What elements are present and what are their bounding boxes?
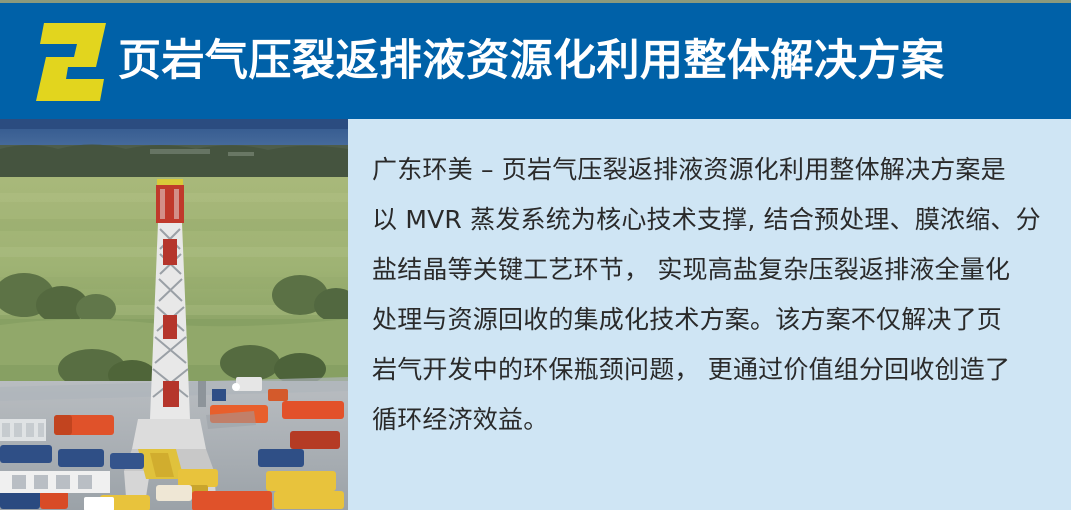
drilling-rig-photo-icon [0, 119, 348, 510]
header-banner: 页岩气压裂返排液资源化利用整体解决方案 [0, 3, 1071, 119]
page-title: 页岩气压裂返排液资源化利用整体解决方案 [118, 40, 945, 83]
description-line: 岩气开发中的环保瓶颈问题， 更通过价值组分回收创造了 [372, 345, 1047, 395]
description-line: 循环经济效益。 [372, 395, 1047, 445]
numeral-two-stencil-icon [34, 21, 112, 103]
description-line: 处理与资源回收的集成化技术方案。该方案不仅解决了页 [372, 295, 1047, 345]
header-banner-content: 页岩气压裂返排液资源化利用整体解决方案 [34, 3, 1071, 119]
solution-banner-page: 页岩气压裂返排液资源化利用整体解决方案 [0, 0, 1071, 510]
description-panel: 广东环美 – 页岩气压裂返排液资源化利用整体解决方案是 以 MVR 蒸发系统为核… [348, 119, 1071, 510]
description-line: 以 MVR 蒸发系统为核心技术支撑, 结合预处理、膜浓缩、分 [372, 195, 1047, 245]
description-line: 盐结晶等关键工艺环节， 实现高盐复杂压裂返排液全量化 [372, 245, 1047, 295]
description-line: 广东环美 – 页岩气压裂返排液资源化利用整体解决方案是 [372, 145, 1047, 195]
